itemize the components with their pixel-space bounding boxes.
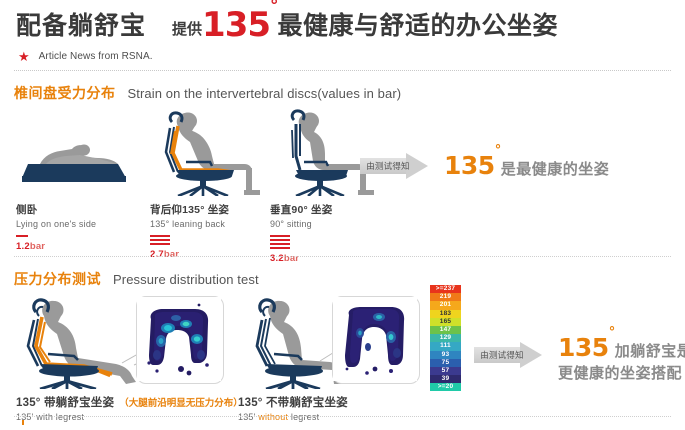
- page-header: 配备躺舒宝 提供 135° 最健康与舒适的办公坐姿 ★ Article News…: [0, 0, 685, 72]
- section1-conclusion: 由测试得知 135°是最健康的坐姿: [360, 150, 609, 181]
- section1-divider: [14, 256, 671, 257]
- scale-entry: >=20: [430, 383, 461, 391]
- conclusion-label: 是最健康的坐姿: [501, 161, 610, 178]
- byline-text: Article News from RSNA.: [39, 51, 153, 62]
- section1-conclusion-text: 135°是最健康的坐姿: [444, 150, 609, 181]
- title-main-text: 配备躺舒宝: [16, 6, 146, 42]
- conclusion-line2: 更健康的坐姿搭配: [558, 365, 685, 384]
- section1-title-cn: 椎间盘受力分布: [14, 83, 116, 103]
- caption-135-without-legrest: 135° 不带躺舒宝坐姿 135' without legrest: [238, 394, 348, 422]
- caption-en: 135' with legrest: [16, 412, 243, 422]
- scale-entry: 57: [430, 367, 461, 375]
- scale-entry: 39: [430, 375, 461, 383]
- scale-entry: 165: [430, 318, 461, 326]
- conclusion-line1: 加躺舒宝是: [615, 343, 685, 360]
- section2-conclusion-text: 135°加躺舒宝是 更健康的坐姿搭配: [558, 332, 685, 384]
- section-pressure: 压力分布测试 Pressure distribution test: [0, 262, 685, 430]
- scale-entry: >=237: [430, 285, 461, 293]
- pressure-map-without-legrest: [332, 296, 420, 384]
- section1-title: 椎间盘受力分布 Strain on the intervertebral dis…: [14, 83, 401, 103]
- arrow-label: 由测试得知: [479, 342, 525, 368]
- arrow-label: 由测试得知: [365, 153, 411, 179]
- caption-en: 135' without legrest: [238, 412, 348, 422]
- title-prefix-text: 提供: [172, 18, 202, 39]
- scale-entry: 201: [430, 301, 461, 309]
- section2-title-cn: 压力分布测试: [14, 269, 101, 289]
- caption-en: Lying on one's side: [16, 219, 96, 229]
- scale-entry: 93: [430, 351, 461, 359]
- scale-entry: 75: [430, 359, 461, 367]
- conclusion-degree: 135°: [558, 333, 615, 362]
- scale-entry: 111: [430, 342, 461, 350]
- caption-lying-on-side: 侧卧 Lying on one's side 1.2bar: [16, 202, 96, 252]
- caption-135-leaning-back: 背后仰135° 坐姿 135° leaning back 2.7bar: [150, 202, 229, 260]
- bottom-accent-mark: [22, 420, 24, 425]
- pressure-scale-legend: >=237 219 201 183 165 147 129 111 93 75 …: [430, 285, 461, 391]
- figure-lying-on-side: [14, 118, 134, 193]
- page-title: 配备躺舒宝 提供 135° 最健康与舒适的办公坐姿: [16, 6, 558, 42]
- caption-en: 135° leaning back: [150, 219, 229, 229]
- scale-entry: 147: [430, 326, 461, 334]
- figure-135-leaning-back: [148, 106, 263, 196]
- caption-en: 90° sitting: [270, 219, 332, 229]
- caption-cn: 135° 带躺舒宝坐姿: [16, 394, 114, 410]
- strain-value: 1.2bar: [16, 241, 96, 252]
- caption-note: （大腿前沿明显无压力分布）: [119, 395, 243, 409]
- bottom-divider: [14, 416, 671, 417]
- strain-bars: [150, 235, 229, 245]
- section2-title: 压力分布测试 Pressure distribution test: [14, 269, 259, 289]
- strain-value: 2.7bar: [150, 249, 229, 260]
- title-tail-text: 最健康与舒适的办公坐姿: [278, 6, 559, 42]
- caption-cn: 135° 不带躺舒宝坐姿: [238, 394, 348, 410]
- strain-bars: [270, 235, 332, 249]
- byline: ★ Article News from RSNA.: [18, 50, 153, 63]
- section2-conclusion: 由测试得知 135°加躺舒宝是 更健康的坐姿搭配: [474, 332, 685, 384]
- section2-title-en: Pressure distribution test: [113, 272, 259, 287]
- scale-entry: 219: [430, 293, 461, 301]
- scale-entry: 129: [430, 334, 461, 342]
- caption-cn: 背后仰135° 坐姿: [150, 202, 229, 217]
- caption-90-sitting: 垂直90° 坐姿 90° sitting 3.2bar: [270, 202, 332, 264]
- section-strain: 椎间盘受力分布 Strain on the intervertebral dis…: [0, 78, 685, 258]
- header-divider: [14, 70, 671, 71]
- scale-entry: 183: [430, 310, 461, 318]
- conclusion-degree: 135°: [444, 151, 501, 180]
- star-icon: ★: [18, 50, 30, 63]
- infographic-page: 配备躺舒宝 提供 135° 最健康与舒适的办公坐姿 ★ Article News…: [0, 0, 685, 430]
- degree-symbol: °: [270, 0, 278, 16]
- caption-135-with-legrest: 135° 带躺舒宝坐姿 （大腿前沿明显无压力分布） 135' with legr…: [16, 394, 243, 422]
- caption-cn: 垂直90° 坐姿: [270, 202, 332, 217]
- arrow-right-icon: 由测试得知: [360, 153, 430, 179]
- strain-bars: [16, 235, 96, 237]
- caption-cn: 侧卧: [16, 202, 96, 217]
- section1-title-en: Strain on the intervertebral discs(value…: [128, 86, 402, 101]
- pressure-map-with-legrest: [136, 296, 224, 384]
- title-degree-number: 135°: [202, 8, 277, 42]
- arrow-right-icon: 由测试得知: [474, 342, 544, 368]
